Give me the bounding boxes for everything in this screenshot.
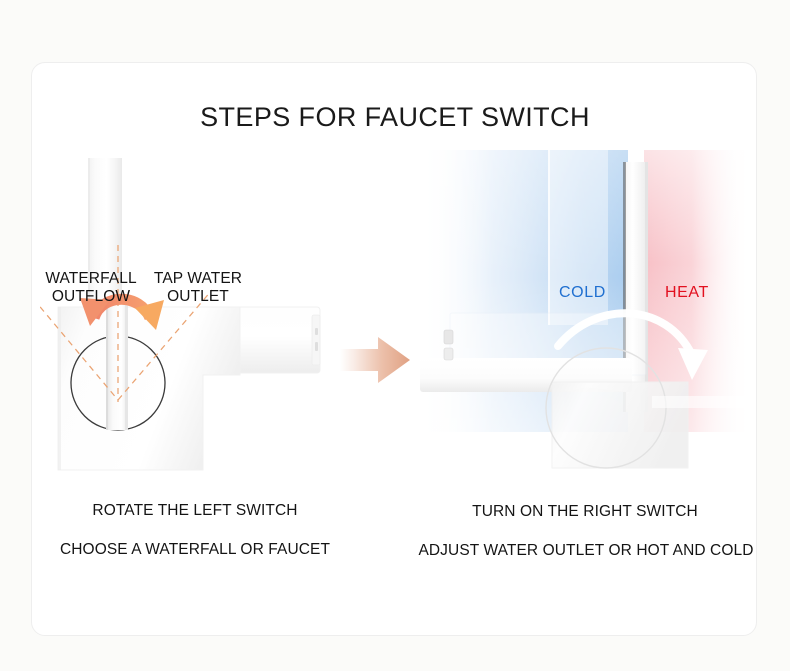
tap-water-outlet-line1: TAP WATER — [142, 270, 254, 288]
page-canvas: STEPS FOR FAUCET SWITCH — [0, 0, 790, 671]
arrow-right-icon — [338, 330, 412, 390]
page-title: STEPS FOR FAUCET SWITCH — [0, 102, 790, 133]
right-faucet-drawing — [420, 150, 750, 490]
right-caption-line1: TURN ON THE RIGHT SWITCH — [420, 503, 750, 521]
tap-water-outlet-label: TAP WATER OUTLET — [142, 270, 254, 306]
cold-label: COLD — [559, 284, 606, 302]
waterfall-outflow-line1: WATERFALL — [36, 270, 146, 288]
step-left-illustration — [40, 150, 350, 490]
waterfall-outflow-label: WATERFALL OUTFLOW — [36, 270, 146, 306]
left-caption-line1: ROTATE THE LEFT SWITCH — [40, 502, 350, 520]
right-faucet-lever[interactable] — [615, 162, 645, 412]
left-faucet-knob[interactable] — [71, 336, 165, 430]
right-caption-line2: ADJUST WATER OUTLET OR HOT AND COLD — [396, 542, 776, 560]
heat-label: HEAT — [665, 284, 709, 302]
left-caption-line2: CHOOSE A WATERFALL OR FAUCET — [30, 541, 360, 559]
left-faucet-drawing — [40, 150, 350, 490]
tap-water-outlet-line2: OUTLET — [142, 288, 254, 306]
step-right-illustration — [420, 150, 750, 490]
waterfall-outflow-line2: OUTFLOW — [36, 288, 146, 306]
